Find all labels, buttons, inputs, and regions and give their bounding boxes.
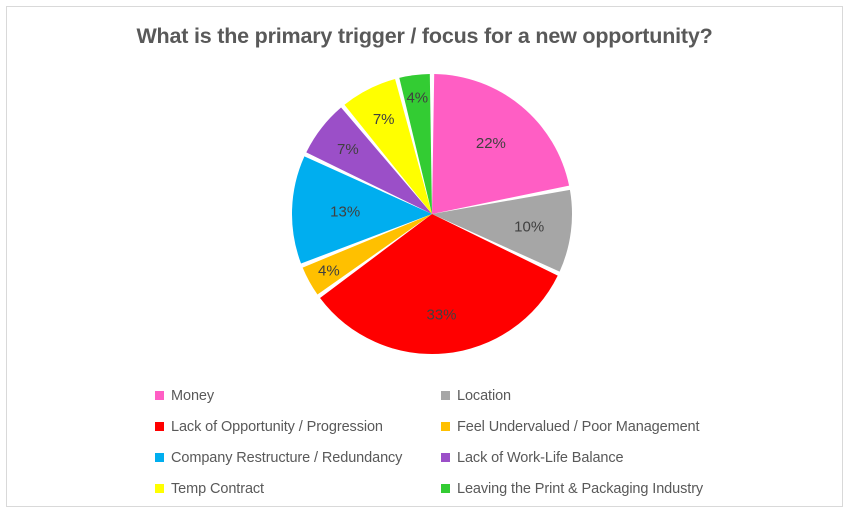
legend-row: MoneyLocation <box>145 380 725 411</box>
chart-legend: MoneyLocationLack of Opportunity / Progr… <box>145 380 725 504</box>
legend-item-label: Lack of Work-Life Balance <box>457 450 623 466</box>
legend-item[interactable]: Lack of Work-Life Balance <box>441 450 725 466</box>
pie-slice-data-label: 7% <box>373 111 395 128</box>
legend-swatch-icon <box>441 391 450 400</box>
pie-data-label-group: 22%10%33%4%13%7%7%4% <box>318 89 544 323</box>
legend-item-label: Feel Undervalued / Poor Management <box>457 419 699 435</box>
legend-swatch-icon <box>155 484 164 493</box>
legend-item[interactable]: Leaving the Print & Packaging Industry <box>441 481 725 497</box>
pie-slice[interactable] <box>292 156 432 263</box>
legend-item[interactable]: Temp Contract <box>145 481 441 497</box>
pie-slice[interactable] <box>306 108 432 214</box>
pie-slice-data-label: 33% <box>426 306 456 323</box>
pie-slice-data-label: 7% <box>337 141 359 158</box>
pie-slice[interactable] <box>399 74 432 214</box>
legend-item-label: Company Restructure / Redundancy <box>171 450 402 466</box>
pie-slice[interactable] <box>432 190 572 272</box>
legend-swatch-icon <box>155 391 164 400</box>
pie-slice-group <box>292 74 572 354</box>
pie-slice-data-label: 4% <box>406 89 428 106</box>
legend-item-label: Money <box>171 388 214 404</box>
pie-slice[interactable] <box>344 79 432 214</box>
legend-item-label: Temp Contract <box>171 481 264 497</box>
legend-item-label: Leaving the Print & Packaging Industry <box>457 481 703 497</box>
pie-slice-data-label: 13% <box>330 203 360 220</box>
legend-swatch-icon <box>441 453 450 462</box>
legend-row: Company Restructure / RedundancyLack of … <box>145 442 725 473</box>
legend-swatch-icon <box>441 484 450 493</box>
legend-item[interactable]: Lack of Opportunity / Progression <box>145 419 441 435</box>
legend-item[interactable]: Company Restructure / Redundancy <box>145 450 441 466</box>
pie-slice[interactable] <box>432 74 569 214</box>
legend-swatch-icon <box>441 422 450 431</box>
legend-item-label: Location <box>457 388 511 404</box>
legend-row: Lack of Opportunity / ProgressionFeel Un… <box>145 411 725 442</box>
legend-swatch-icon <box>155 453 164 462</box>
legend-item[interactable]: Feel Undervalued / Poor Management <box>441 419 725 435</box>
pie-slice[interactable] <box>320 214 558 354</box>
legend-swatch-icon <box>155 422 164 431</box>
pie-slice-data-label: 4% <box>318 263 340 280</box>
pie-slice[interactable] <box>303 214 432 295</box>
legend-item-label: Lack of Opportunity / Progression <box>171 419 383 435</box>
legend-row: Temp ContractLeaving the Print & Packagi… <box>145 473 725 504</box>
legend-item[interactable]: Location <box>441 388 725 404</box>
chart-title: What is the primary trigger / focus for … <box>7 24 842 49</box>
pie-slice-data-label: 22% <box>476 135 506 152</box>
chart-container: What is the primary trigger / focus for … <box>6 6 843 507</box>
pie-slice-data-label: 10% <box>514 218 544 235</box>
legend-item[interactable]: Money <box>145 388 441 404</box>
